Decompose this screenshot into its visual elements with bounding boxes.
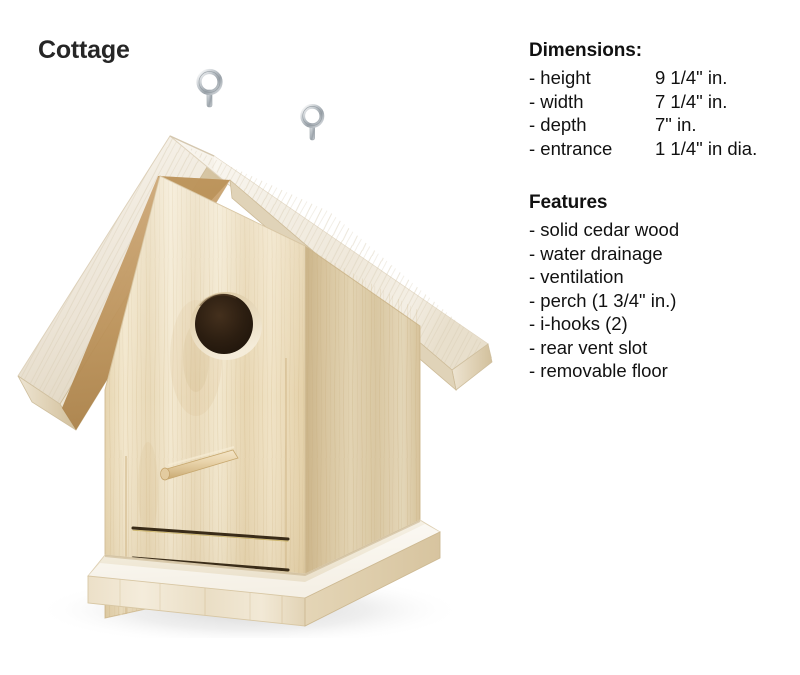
feature-item: - perch (1 3/4" in.)	[529, 289, 797, 313]
dimension-value: 1 1/4" in dia.	[655, 137, 797, 161]
entrance-hole	[190, 292, 262, 360]
dimension-row-height: - height 9 1/4" in.	[529, 66, 797, 90]
i-hooks	[199, 72, 322, 141]
dimension-row-entrance: - entrance 1 1/4" in dia.	[529, 137, 797, 161]
dimensions-block: Dimensions: - height 9 1/4" in. - width …	[529, 40, 797, 160]
dimensions-heading: Dimensions:	[529, 40, 797, 62]
dimension-row-width: - width 7 1/4" in.	[529, 90, 797, 114]
dimensions-list: - height 9 1/4" in. - width 7 1/4" in. -…	[529, 66, 797, 160]
feature-item: - water drainage	[529, 242, 797, 266]
dimension-row-depth: - depth 7" in.	[529, 113, 797, 137]
feature-item: - ventilation	[529, 265, 797, 289]
i-hook-2	[303, 106, 322, 140]
dimension-label: - width	[529, 90, 655, 114]
dimension-label: - depth	[529, 113, 655, 137]
spec-panel: Dimensions: - height 9 1/4" in. - width …	[529, 40, 797, 383]
feature-item: - solid cedar wood	[529, 218, 797, 242]
i-hook-1	[199, 72, 220, 108]
dimension-value: 9 1/4" in.	[655, 66, 797, 90]
feature-item: - removable floor	[529, 359, 797, 383]
dimension-value: 7" in.	[655, 113, 797, 137]
feature-item: - rear vent slot	[529, 336, 797, 360]
features-block: Features - solid cedar wood - water drai…	[529, 192, 797, 383]
birdhouse-illustration	[0, 58, 500, 638]
feature-item: - i-hooks (2)	[529, 312, 797, 336]
dimension-value: 7 1/4" in.	[655, 90, 797, 114]
features-list: - solid cedar wood - water drainage - ve…	[529, 218, 797, 383]
dimension-label: - entrance	[529, 137, 655, 161]
features-heading: Features	[529, 192, 797, 214]
product-photo	[0, 58, 500, 638]
dimension-label: - height	[529, 66, 655, 90]
